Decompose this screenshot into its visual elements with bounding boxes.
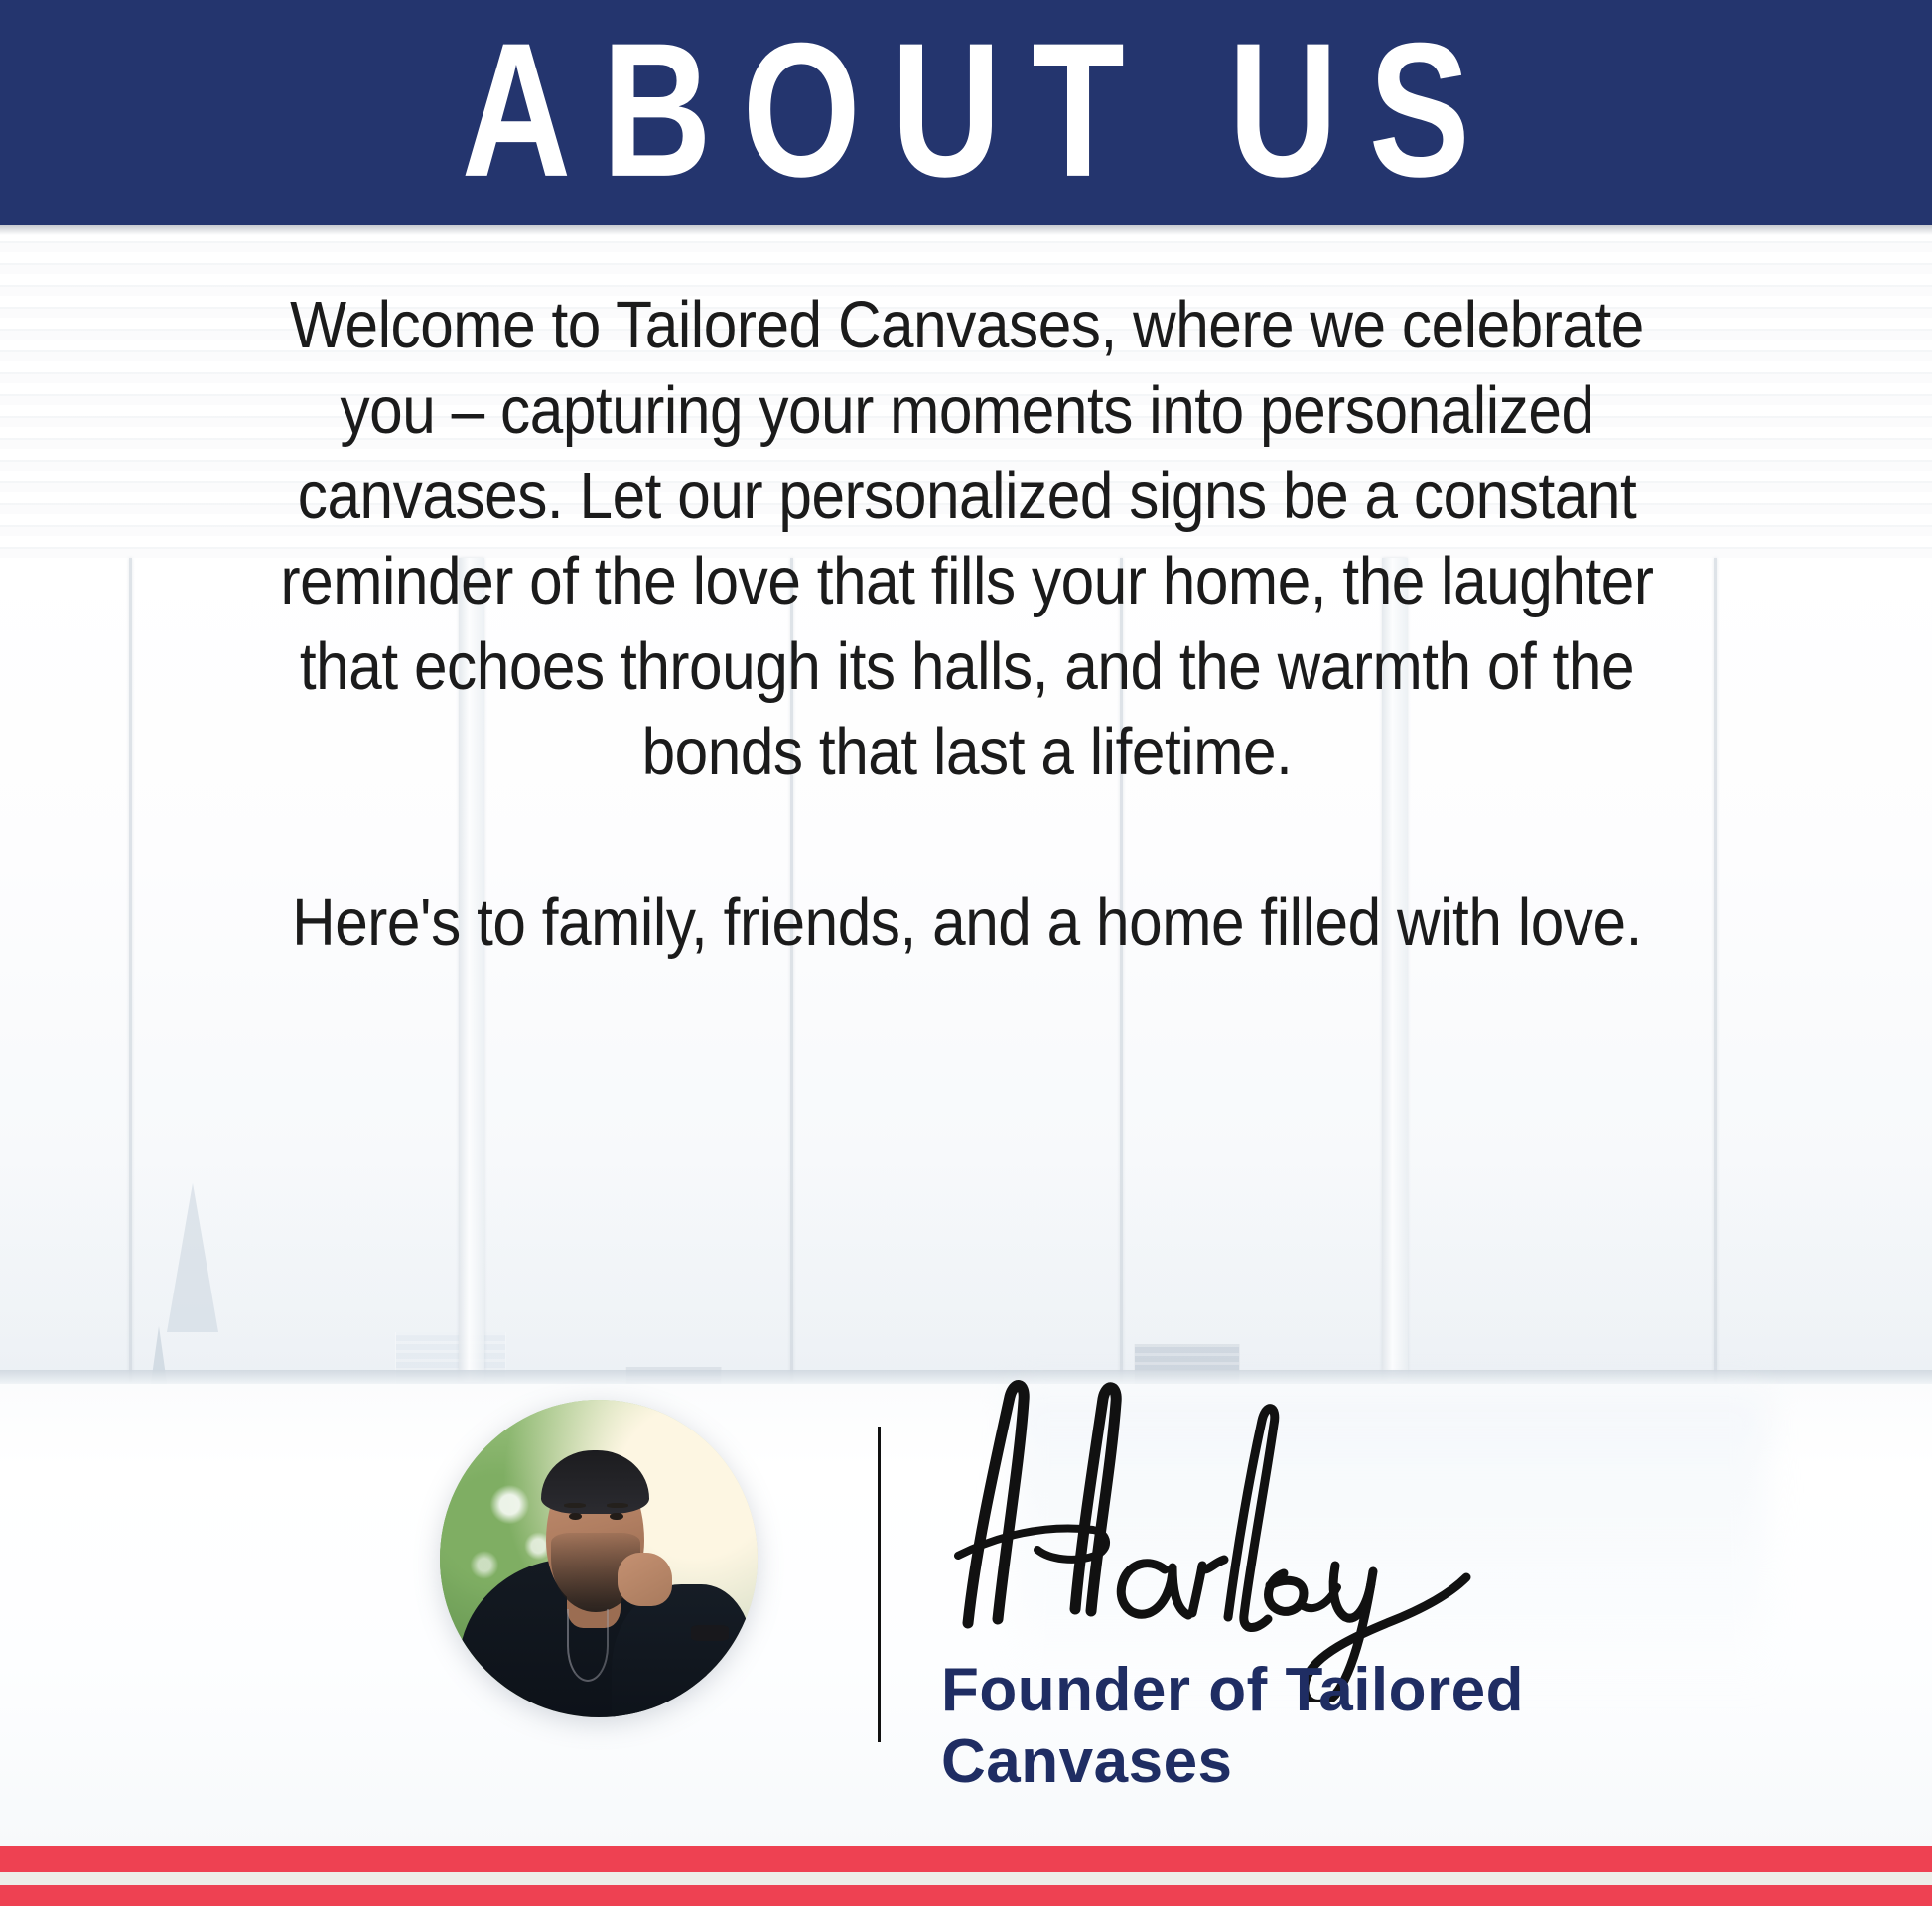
founder-title: Founder of Tailored Canvases: [941, 1655, 1636, 1798]
portrait-wristwatch: [691, 1625, 729, 1641]
handwritten-signature-harley: [898, 1375, 1514, 1702]
founder-block: Founder of Tailored Canvases: [0, 1385, 1932, 1822]
portrait-necklace: [567, 1609, 609, 1681]
signature-wrap: [898, 1375, 1514, 1702]
window-mullion: [129, 558, 132, 1382]
footer-stripe-bottom: [0, 1885, 1932, 1906]
portrait-eyebrow-right: [607, 1503, 628, 1508]
founder-title-line-1: Founder of Tailored: [941, 1655, 1636, 1726]
portrait-eyebrow-left: [564, 1503, 586, 1508]
about-us-banner: ABOUT US: [0, 0, 1932, 225]
vertical-divider: [878, 1427, 881, 1742]
footer-stripe-top: [0, 1846, 1932, 1872]
about-us-graphic: ABOUT US Welcome to Tailored Canvases, w…: [0, 0, 1932, 1906]
body-paragraph-2: Here's to family, friends, and a home fi…: [275, 881, 1658, 966]
avatar: [440, 1400, 758, 1717]
window-mullion: [1714, 558, 1717, 1382]
founder-portrait-photo: [440, 1400, 758, 1717]
portrait-eye-right: [610, 1513, 622, 1521]
footer-stripe-gap: [0, 1872, 1932, 1885]
page-title: ABOUT US: [431, 14, 1501, 204]
founder-title-line-2: Canvases: [941, 1726, 1636, 1798]
banner-drop-shadow: [0, 225, 1932, 235]
about-us-body-text: Welcome to Tailored Canvases, where we c…: [275, 283, 1658, 966]
skyline-spire: [167, 1183, 218, 1332]
portrait-hand: [618, 1553, 671, 1606]
body-paragraph-1: Welcome to Tailored Canvases, where we c…: [275, 283, 1658, 795]
